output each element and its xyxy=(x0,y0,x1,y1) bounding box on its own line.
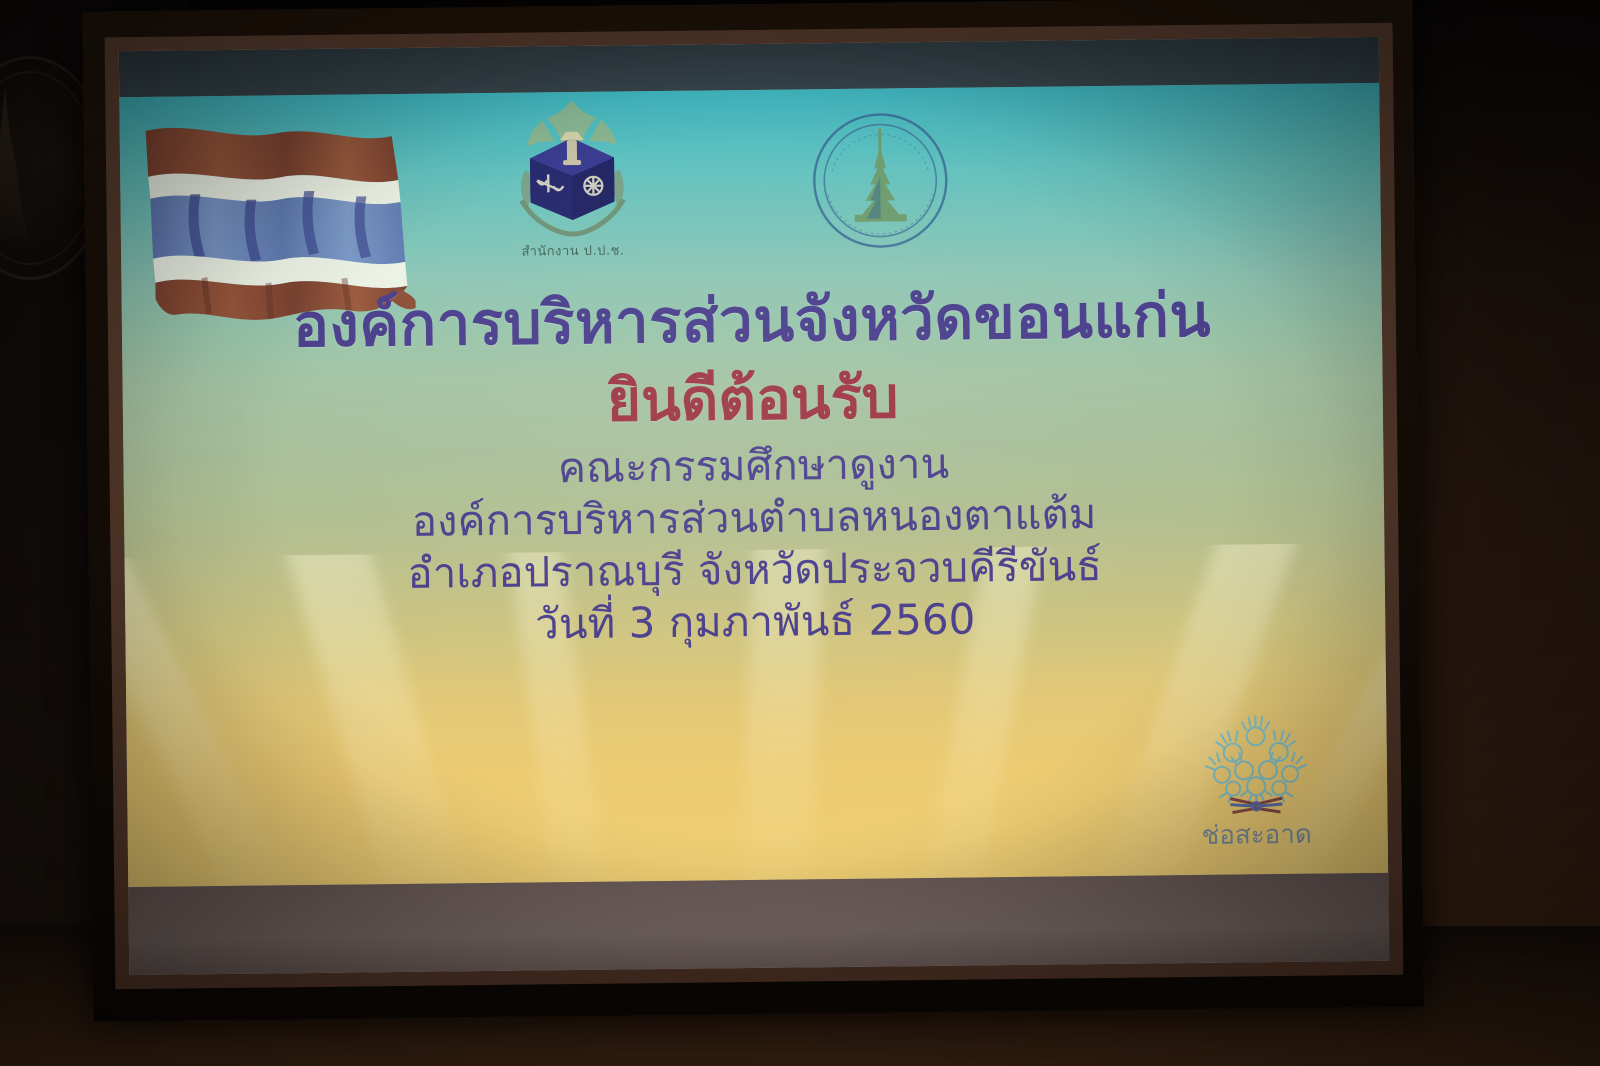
bouquet-logo-caption: ช่อสะอาด xyxy=(1182,813,1332,856)
slide-text-block: องค์การบริหารส่วนจังหวัดขอนแก่น ยินดีต้อ… xyxy=(122,283,1386,652)
slide-welcome-heading: ยินดีต้อนรับ xyxy=(122,362,1383,437)
provincial-pagoda-seal xyxy=(809,110,951,252)
chor-sa-ard-bouquet-logo: ช่อสะอาด xyxy=(1180,713,1332,865)
nacc-emblem: สำนักงาน ป.ป.ช. xyxy=(491,95,653,282)
projector-screen-surface: สำนักงาน ป.ป.ช. xyxy=(119,37,1389,975)
presentation-slide: สำนักงาน ป.ป.ช. xyxy=(119,83,1388,887)
projector-screen-bezel: สำนักงาน ป.ป.ช. xyxy=(105,23,1404,990)
wall-right-panel xyxy=(1400,0,1600,1066)
nacc-emblem-caption: สำนักงาน ป.ป.ช. xyxy=(493,239,653,262)
slide-subtitle-2: องค์การบริหารส่วนตำบลหนองตาแต้ม xyxy=(124,489,1384,547)
meeting-room-scene: สำนักงาน ป.ป.ช. xyxy=(0,0,1600,1066)
projector-screen-frame: สำนักงาน ป.ป.ช. xyxy=(82,0,1423,1022)
slide-subtitle-1: คณะกรรมศึกษาดูงาน xyxy=(123,437,1383,495)
slide-bottom-band xyxy=(128,873,1389,975)
slide-title: องค์การบริหารส่วนจังหวัดขอนแก่น xyxy=(122,283,1383,360)
slide-subtitle-3: อำเภอปราณบุรี จังหวัดประจวบคีรีขันธ์ xyxy=(124,541,1384,599)
